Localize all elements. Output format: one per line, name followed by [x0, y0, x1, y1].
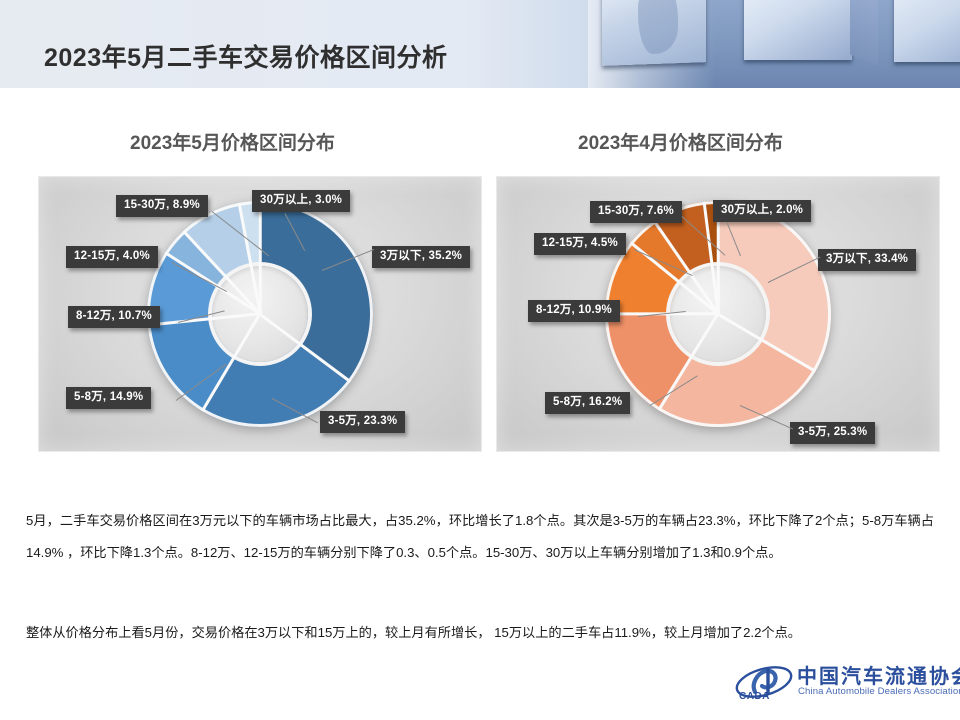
chart-title-april: 2023年4月价格区间分布 — [578, 128, 783, 155]
chart-title-may: 2023年5月价格区间分布 — [130, 128, 335, 155]
logo-abbr: CADA — [739, 691, 770, 702]
analysis-paragraph-2: 整体从价格分布上看5月份，交易价格在3万以下和15万上的，较上月有所增长， 15… — [26, 617, 906, 649]
callout-april-12-15wan: 12-15万, 4.5% — [534, 233, 626, 255]
donut-chart-april[interactable] — [605, 201, 831, 427]
callout-may-5-8wan: 5-8万, 14.9% — [66, 387, 151, 409]
callout-april-30wan-above: 30万以上, 2.0% — [713, 200, 811, 222]
analysis-paragraph-2-text: 整体从价格分布上看5月份，交易价格在3万以下和15万上的，较上月有所增长， 15… — [26, 617, 906, 649]
analysis-paragraph-1-text: 5月，二手车交易价格区间在3万元以下的车辆市场占比最大，占35.2%，环比增长了… — [26, 505, 934, 570]
donut-separator — [259, 201, 262, 314]
callout-may-30wan-above: 30万以上, 3.0% — [252, 190, 350, 212]
decorative-cube-icon — [894, 0, 960, 62]
decorative-cube-icon — [602, 0, 706, 66]
callout-may-3wan-below: 3万以下, 35.2% — [372, 246, 470, 268]
callout-may-8-12wan: 8-12万, 10.7% — [68, 306, 160, 328]
callout-april-8-12wan: 8-12万, 10.9% — [528, 300, 620, 322]
callout-april-3wan-below: 3万以下, 33.4% — [818, 249, 916, 271]
logo-english-name: China Automobile Dealers Association — [798, 686, 960, 697]
callout-april-15-30wan: 15-30万, 7.6% — [590, 201, 682, 223]
donut-wrap-may — [147, 201, 373, 427]
callout-may-3-5wan: 3-5万, 23.3% — [320, 411, 405, 433]
cada-logo: CADA 中国汽车流通协会 China Automobile Dealers A… — [735, 660, 945, 708]
decorative-cube-icon — [744, 0, 852, 60]
callout-april-3-5wan: 3-5万, 25.3% — [790, 422, 875, 444]
callout-april-5-8wan: 5-8万, 16.2% — [545, 392, 630, 414]
banner-decorative-image — [588, 0, 960, 88]
callout-may-15-30wan: 15-30万, 8.9% — [116, 195, 208, 217]
logo-chinese-name: 中国汽车流通协会 — [797, 660, 960, 689]
callout-may-12-15wan: 12-15万, 4.0% — [66, 246, 158, 268]
analysis-paragraph-1: 5月，二手车交易价格区间在3万元以下的车辆市场占比最大，占35.2%，环比增长了… — [26, 505, 934, 570]
donut-wrap-april — [605, 201, 831, 427]
world-map-icon — [638, 0, 678, 55]
donut-chart-may[interactable] — [147, 201, 373, 427]
slide-root: 2023年5月二手车交易价格区间分析 2023年5月价格区间分布 30万以上, … — [0, 0, 960, 720]
page-title: 2023年5月二手车交易价格区间分析 — [44, 38, 448, 74]
